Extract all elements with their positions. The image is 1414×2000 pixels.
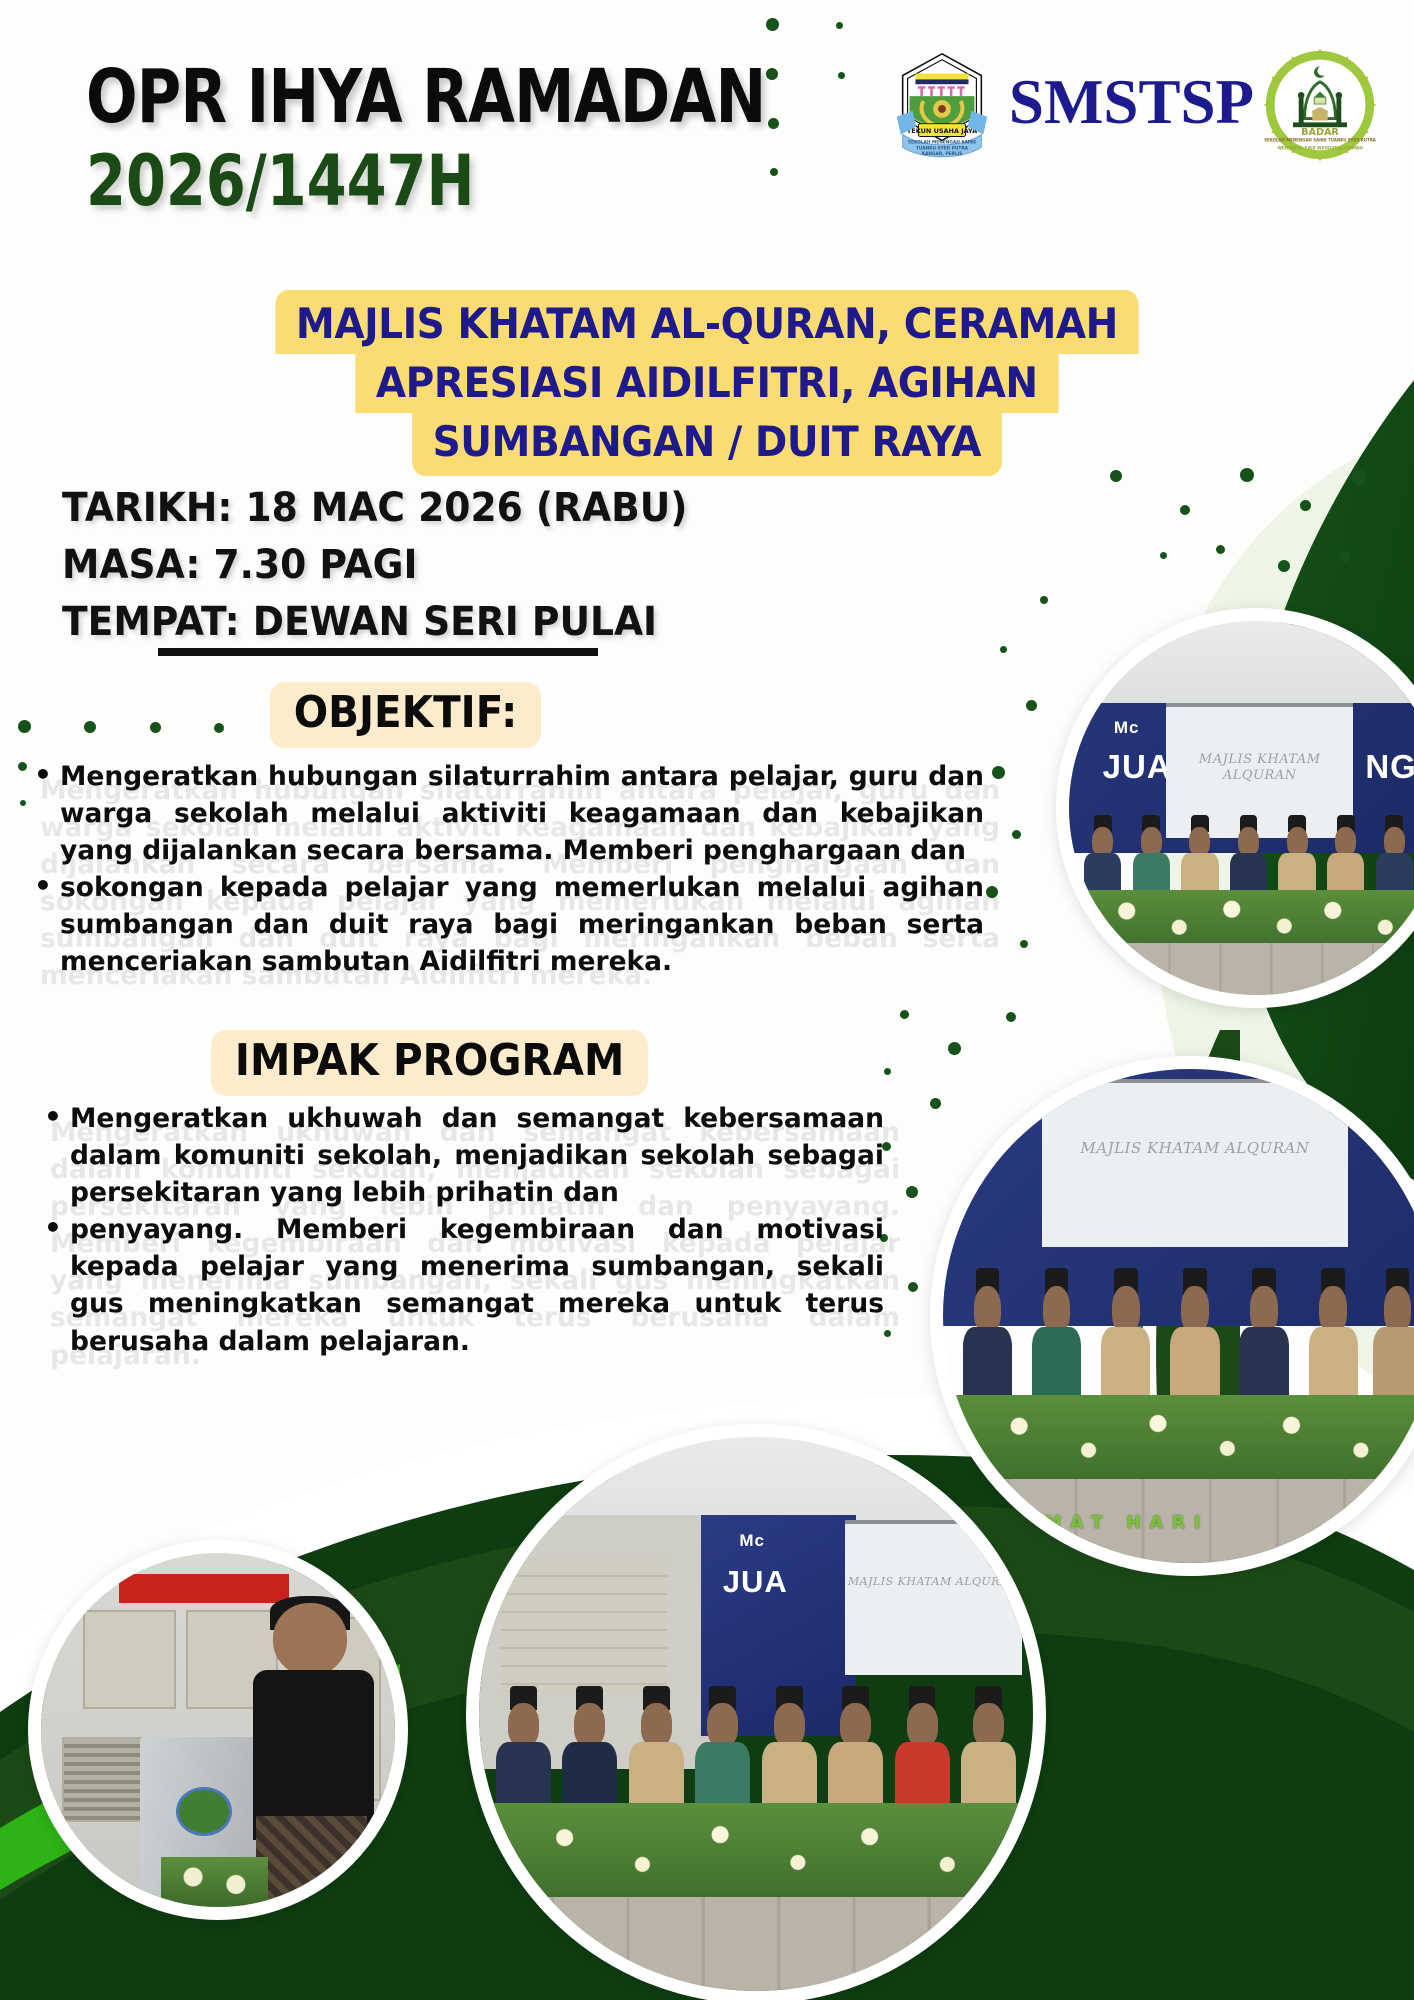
photo4-backdrop-mid: JUA	[723, 1564, 788, 1600]
objektif-body: Mengeratkan hubungan silaturrahim antara…	[24, 758, 984, 981]
title-block: OPR IHYA RAMADAN 2026/1447H	[86, 62, 915, 216]
smstsp-wordmark: SMSTSP	[1009, 71, 1254, 140]
banner-line-3: SUMBANGAN / DUIT RAYA	[412, 413, 1001, 476]
list-item: Mengeratkan hubungan silaturrahim antara…	[24, 758, 984, 869]
svg-text:BADAR: BADAR	[1301, 127, 1339, 138]
list-item: Mengeratkan ukhuwah dan semangat kebersa…	[34, 1100, 884, 1211]
logo-row: TEKUN USAHA JAYA SEKOLAH MENENGAH SAINS …	[883, 40, 1378, 170]
list-item: sokongan kepada pelajar yang memerlukan …	[24, 869, 984, 980]
photo4-decor-text: AYA	[512, 1925, 566, 1944]
photo-speaker-podium	[28, 1540, 408, 1920]
poster-header: OPR IHYA RAMADAN 2026/1447H	[0, 0, 1414, 250]
photo-hall-wide: Mc JUA MAJLIS KHATAM ALQURAN AYA	[466, 1424, 1046, 2000]
event-banner: MAJLIS KHATAM AL-QURAN, CERAMAH APRESIAS…	[0, 290, 1414, 476]
photo1-backdrop-left: Mc	[1114, 718, 1140, 738]
impak-list: Mengeratkan ukhuwah dan semangat kebersa…	[34, 1100, 884, 1360]
photo2-decor-text: LAMAT HARI	[1002, 1504, 1414, 1544]
section-heading-impak: IMPAK PROGRAM	[211, 1030, 648, 1096]
banner-line-2: APRESIASI AIDILFITRI, AGIHAN	[356, 354, 1059, 413]
objektif-list: Mengeratkan hubungan silaturrahim antara…	[24, 758, 984, 981]
section-heading-objektif: OBJEKTIF:	[270, 682, 542, 748]
svg-text:TUANKU SYED PUTRA: TUANKU SYED PUTRA	[916, 145, 969, 151]
svg-text:TEKUN USAHA JAYA: TEKUN USAHA JAYA	[907, 127, 977, 135]
event-date: TARIKH: 18 MAC 2026 (RABU)	[62, 480, 687, 537]
photo4-screen-text: MAJLIS KHATAM ALQURAN	[845, 1575, 1022, 1589]
svg-text:SEKOLAH MENENGAH SAINS TUANKU: SEKOLAH MENENGAH SAINS TUANKU SYED PUTRA	[1264, 138, 1377, 143]
event-time: MASA: 7.30 PAGI	[62, 537, 687, 594]
photo1-backdrop-right: NG	[1365, 748, 1414, 786]
event-details: TARIKH: 18 MAC 2026 (RABU) MASA: 7.30 PA…	[62, 480, 687, 650]
event-venue: TEMPAT: DEWAN SERI PULAI	[62, 594, 687, 651]
impak-body: Mengeratkan ukhuwah dan semangat kebersa…	[34, 1100, 884, 1360]
details-divider	[158, 648, 598, 656]
photo1-screen-text: MAJLIS KHATAM ALQURAN	[1166, 752, 1353, 785]
page-title: OPR IHYA RAMADAN	[86, 62, 766, 132]
svg-text:KANGAR, PERLIS: KANGAR, PERLIS	[922, 151, 963, 157]
poster-root: OPR IHYA RAMADAN 2026/1447H	[0, 0, 1414, 2000]
list-item: penyayang. Memberi kegembiraan dan motiv…	[34, 1211, 884, 1359]
svg-text:WEHDATUL FIKR WEHDATUL UMMAH: WEHDATUL FIKR WEHDATUL UMMAH	[1277, 145, 1363, 150]
school-crest-logo: TEKUN USAHA JAYA SEKOLAH MENENGAH SAINS …	[883, 46, 1001, 164]
photo2-screen-text: MAJLIS KHATAM ALQURAN	[1042, 1139, 1348, 1158]
photo-khatam-quran-panel: Mc JUA NG MAJLIS KHATAM ALQURAN	[1056, 608, 1414, 1008]
svg-text:SEKOLAH MENENGAH SAINS: SEKOLAH MENENGAH SAINS	[908, 139, 976, 145]
banner-line-1: MAJLIS KHATAM AL-QURAN, CERAMAH	[276, 290, 1139, 354]
page-subtitle: 2026/1447H	[86, 146, 766, 216]
badar-logo: BADAR SEKOLAH MENENGAH SAINS TUANKU SYED…	[1262, 47, 1378, 163]
photo1-backdrop-mid: JUA	[1103, 748, 1172, 786]
photo4-backdrop-left: Mc	[739, 1531, 765, 1551]
